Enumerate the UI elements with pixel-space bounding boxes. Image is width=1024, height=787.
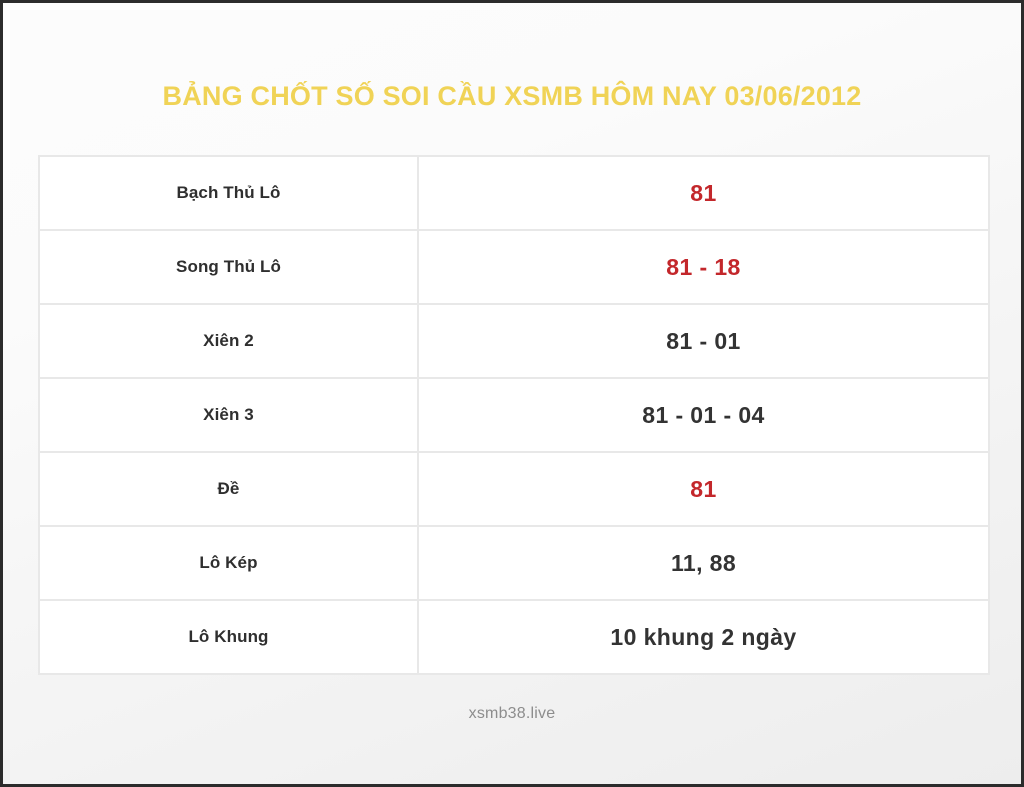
footer-site-name: xsmb38.live [3, 705, 1021, 723]
row-value: 81 - 01 [418, 304, 989, 378]
chot-so-table-body: Bạch Thủ Lô81Song Thủ Lô81 - 18Xiên 281 … [39, 156, 989, 674]
table-row: Xiên 281 - 01 [39, 304, 989, 378]
row-value: 81 - 18 [418, 230, 989, 304]
row-label: Xiên 2 [39, 304, 418, 378]
page-frame: BẢNG CHỐT SỐ SOI CẦU XSMB HÔM NAY 03/06/… [3, 3, 1021, 784]
table-row: Bạch Thủ Lô81 [39, 156, 989, 230]
chot-so-table-container: Bạch Thủ Lô81Song Thủ Lô81 - 18Xiên 281 … [38, 155, 988, 675]
row-label: Song Thủ Lô [39, 230, 418, 304]
row-value: 81 - 01 - 04 [418, 378, 989, 452]
row-label: Lô Kép [39, 526, 418, 600]
row-label: Xiên 3 [39, 378, 418, 452]
row-value: 10 khung 2 ngày [418, 600, 989, 674]
page-content: BẢNG CHỐT SỐ SOI CẦU XSMB HÔM NAY 03/06/… [3, 3, 1021, 784]
row-label: Lô Khung [39, 600, 418, 674]
row-label: Đề [39, 452, 418, 526]
table-row: Lô Khung10 khung 2 ngày [39, 600, 989, 674]
row-value: 81 [418, 156, 989, 230]
chot-so-table: Bạch Thủ Lô81Song Thủ Lô81 - 18Xiên 281 … [38, 155, 990, 675]
table-row: Song Thủ Lô81 - 18 [39, 230, 989, 304]
table-row: Lô Kép11, 88 [39, 526, 989, 600]
table-row: Đề81 [39, 452, 989, 526]
row-value: 11, 88 [418, 526, 989, 600]
row-label: Bạch Thủ Lô [39, 156, 418, 230]
table-row: Xiên 381 - 01 - 04 [39, 378, 989, 452]
row-value: 81 [418, 452, 989, 526]
page-title: BẢNG CHỐT SỐ SOI CẦU XSMB HÔM NAY 03/06/… [3, 81, 1021, 112]
